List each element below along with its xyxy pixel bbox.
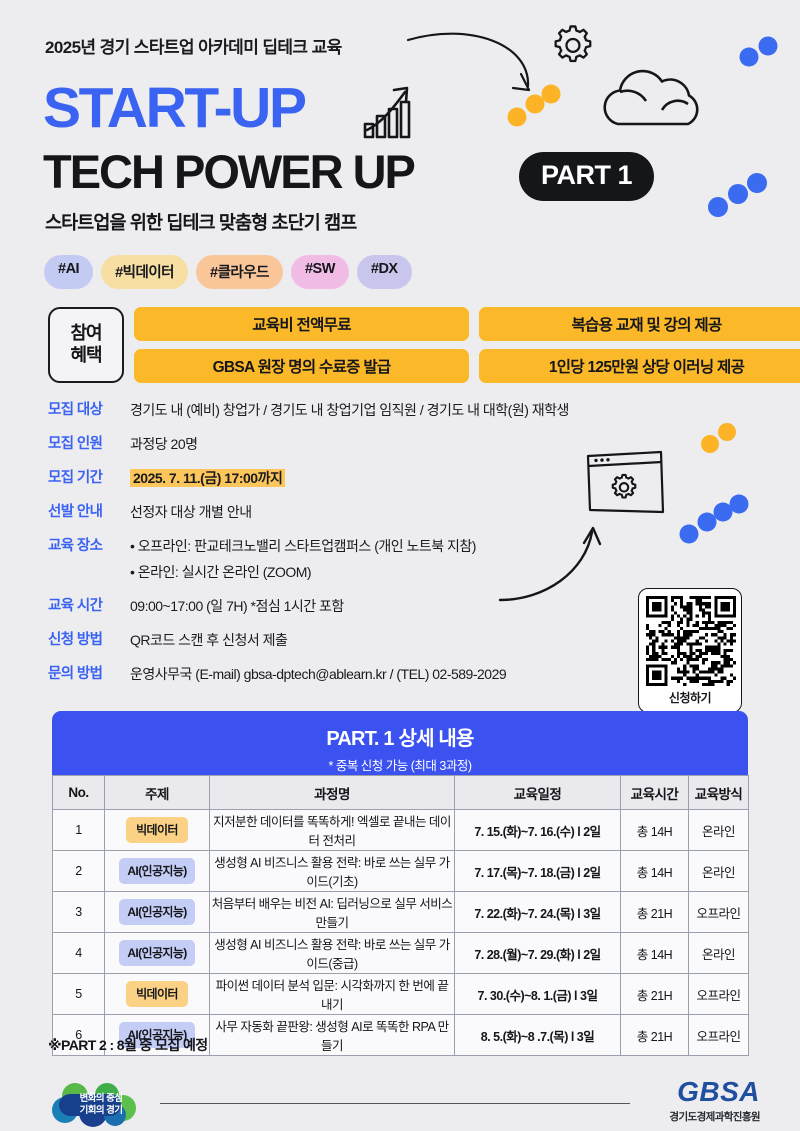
cell-schedule: 7. 28.(월)~7. 29.(화) l 2일	[455, 933, 621, 974]
benefit-item: 1인당 125만원 상당 이러닝 제공	[479, 349, 800, 383]
kicker-text: 2025년 경기 스타트업 아카데미 딥테크 교육	[45, 33, 342, 58]
info-value: 2025. 7. 11.(금) 17:00까지	[130, 468, 285, 488]
column-header: 교육시간	[621, 776, 689, 810]
cell-hours: 총 14H	[621, 810, 689, 851]
gyeonggi-logo-text: 변화의 중심 기회의 경기	[80, 1093, 123, 1117]
cell-schedule: 7. 30.(수)~8. 1.(금) l 3일	[455, 974, 621, 1015]
cell-no: 1	[53, 810, 105, 851]
info-row: 교육 장소• 오프라인: 판교테크노밸리 스타트업캠퍼스 (개인 노트북 지참)…	[48, 536, 648, 583]
cell-course-name: 지저분한 데이터를 똑똑하게! 엑셀로 끝내는 데이터 전처리	[210, 810, 455, 851]
subtitle-text: 스타트업을 위한 딥테크 맞춤형 초단기 캠프	[45, 209, 356, 235]
gbsa-logo: GBSA 경기도경제과학진흥원	[669, 1078, 760, 1124]
cell-hours: 총 14H	[621, 851, 689, 892]
info-value: 선정자 대상 개별 안내	[130, 502, 252, 522]
gyeonggi-logo: 변화의 중심 기회의 경기	[47, 1082, 155, 1128]
title-line-1: START-UP	[43, 80, 305, 137]
cell-no: 2	[53, 851, 105, 892]
qr-apply-label: 신청하기	[646, 689, 734, 706]
cell-no: 5	[53, 974, 105, 1015]
course-table-body: 1빅데이터지저분한 데이터를 똑똑하게! 엑셀로 끝내는 데이터 전처리7. 1…	[53, 810, 749, 1056]
cell-hours: 총 14H	[621, 933, 689, 974]
info-label: 문의 방법	[48, 664, 130, 685]
benefits-badge: 참여 혜택	[48, 307, 124, 383]
benefits-grid: 교육비 전액무료복습용 교재 및 강의 제공GBSA 원장 명의 수료증 발급1…	[134, 307, 800, 383]
info-row: 모집 대상경기도 내 (예비) 창업가 / 경기도 내 창업기업 임직원 / 경…	[48, 400, 648, 421]
cell-hours: 총 21H	[621, 1015, 689, 1056]
cell-topic: AI(인공지능)	[105, 851, 210, 892]
cell-mode: 오프라인	[689, 974, 749, 1015]
info-value-highlight: 2025. 7. 11.(금) 17:00까지	[130, 469, 285, 487]
footer-divider	[160, 1103, 630, 1104]
hashtag-2: #빅데이터	[101, 255, 188, 289]
gyeonggi-logo-line-1: 변화의 중심	[80, 1093, 123, 1104]
info-label: 선발 안내	[48, 502, 130, 523]
column-header: No.	[53, 776, 105, 810]
course-table-head: No.주제과정명교육일정교육시간교육방식	[53, 776, 749, 810]
hashtag-5: #DX	[357, 255, 412, 289]
hashtag-3: #클라우드	[196, 255, 283, 289]
info-row: 모집 기간2025. 7. 11.(금) 17:00까지	[48, 468, 648, 489]
info-value: QR코드 스캔 후 신청서 제출	[130, 630, 287, 650]
part-badge: PART 1	[519, 152, 654, 201]
info-row: 교육 시간09:00~17:00 (일 7H) *점심 1시간 포함	[48, 596, 648, 617]
cell-mode: 오프라인	[689, 892, 749, 933]
cell-mode: 온라인	[689, 933, 749, 974]
table-row: 2AI(인공지능)생성형 AI 비즈니스 활용 전략: 바로 쓰는 실무 가이드…	[53, 851, 749, 892]
table-row: 4AI(인공지능)생성형 AI 비즈니스 활용 전략: 바로 쓰는 실무 가이드…	[53, 933, 749, 974]
column-header: 교육방식	[689, 776, 749, 810]
info-label: 교육 장소	[48, 536, 130, 557]
column-header: 주제	[105, 776, 210, 810]
cell-topic: AI(인공지능)	[105, 892, 210, 933]
topic-badge: AI(인공지능)	[119, 858, 194, 884]
cell-no: 3	[53, 892, 105, 933]
table-note: * 중복 신청 가능 (최대 3과정)	[52, 755, 748, 774]
info-value-line: • 오프라인: 판교테크노밸리 스타트업캠퍼스 (개인 노트북 지참)	[130, 536, 476, 556]
table-row: 1빅데이터지저분한 데이터를 똑똑하게! 엑셀로 끝내는 데이터 전처리7. 1…	[53, 810, 749, 851]
gyeonggi-logo-line-2: 기회의 경기	[80, 1105, 123, 1116]
info-label: 교육 시간	[48, 596, 130, 617]
info-value: 09:00~17:00 (일 7H) *점심 1시간 포함	[130, 596, 344, 616]
cell-mode: 온라인	[689, 810, 749, 851]
cell-hours: 총 21H	[621, 974, 689, 1015]
cell-course-name: 생성형 AI 비즈니스 활용 전략: 바로 쓰는 실무 가이드(기초)	[210, 851, 455, 892]
cell-schedule: 7. 22.(화)~7. 24.(목) l 3일	[455, 892, 621, 933]
info-value-line: • 온라인: 실시간 온라인 (ZOOM)	[130, 562, 476, 582]
cell-course-name: 생성형 AI 비즈니스 활용 전략: 바로 쓰는 실무 가이드(중급)	[210, 933, 455, 974]
hashtag-4: #SW	[291, 255, 349, 289]
gbsa-wordmark: GBSA	[669, 1078, 760, 1106]
info-row: 문의 방법운영사무국 (E-mail) gbsa-dptech@ablearn.…	[48, 664, 648, 685]
cell-schedule: 7. 17.(목)~7. 18.(금) l 2일	[455, 851, 621, 892]
topic-badge: AI(인공지능)	[119, 940, 194, 966]
info-value: • 오프라인: 판교테크노밸리 스타트업캠퍼스 (개인 노트북 지참)• 온라인…	[130, 536, 476, 583]
cell-schedule: 8. 5.(화)~8 .7.(목) l 3일	[455, 1015, 621, 1056]
info-label: 모집 기간	[48, 468, 130, 489]
table-row: 5빅데이터파이썬 데이터 분석 입문: 시각화까지 한 번에 끝내기7. 30.…	[53, 974, 749, 1015]
cell-course-name: 사무 자동화 끝판왕: 생성형 AI로 똑똑한 RPA 만들기	[210, 1015, 455, 1056]
info-value: 과정당 20명	[130, 434, 197, 454]
table-title: PART. 1 상세 내용	[52, 722, 748, 751]
benefit-item: GBSA 원장 명의 수료증 발급	[134, 349, 469, 383]
cell-mode: 온라인	[689, 851, 749, 892]
benefits-section: 참여 혜택 교육비 전액무료복습용 교재 및 강의 제공GBSA 원장 명의 수…	[48, 307, 800, 383]
topic-badge: 빅데이터	[126, 981, 188, 1007]
benefit-item: 교육비 전액무료	[134, 307, 469, 341]
table-row: 3AI(인공지능)처음부터 배우는 비전 AI: 딥러닝으로 실무 서비스 만들…	[53, 892, 749, 933]
info-value: 운영사무국 (E-mail) gbsa-dptech@ablearn.kr / …	[130, 664, 506, 684]
hashtag-list: #AI#빅데이터#클라우드#SW#DX	[44, 255, 412, 289]
qr-code-image	[646, 596, 736, 686]
info-label: 신청 방법	[48, 630, 130, 651]
cell-mode: 오프라인	[689, 1015, 749, 1056]
cell-course-name: 처음부터 배우는 비전 AI: 딥러닝으로 실무 서비스 만들기	[210, 892, 455, 933]
gbsa-subtitle: 경기도경제과학진흥원	[669, 1109, 760, 1124]
column-header: 과정명	[210, 776, 455, 810]
info-row: 선발 안내선정자 대상 개별 안내	[48, 502, 648, 523]
benefits-badge-line-1: 참여	[70, 323, 101, 345]
info-value: 경기도 내 (예비) 창업가 / 경기도 내 창업기업 임직원 / 경기도 내 …	[130, 400, 569, 420]
info-label: 모집 대상	[48, 400, 130, 421]
hashtag-1: #AI	[44, 255, 93, 289]
table-header-banner: PART. 1 상세 내용 * 중복 신청 가능 (최대 3과정)	[52, 711, 748, 784]
qr-apply-card[interactable]: 신청하기	[638, 588, 742, 713]
benefits-badge-line-2: 혜택	[70, 345, 101, 367]
poster-root: 2025년 경기 스타트업 아카데미 딥테크 교육 START-UP TECH …	[0, 0, 800, 1131]
cell-schedule: 7. 15.(화)~7. 16.(수) l 2일	[455, 810, 621, 851]
info-row: 신청 방법QR코드 스캔 후 신청서 제출	[48, 630, 648, 651]
topic-badge: AI(인공지능)	[119, 899, 194, 925]
table-header-row: No.주제과정명교육일정교육시간교육방식	[53, 776, 749, 810]
cell-topic: AI(인공지능)	[105, 933, 210, 974]
cell-no: 4	[53, 933, 105, 974]
cell-course-name: 파이썬 데이터 분석 입문: 시각화까지 한 번에 끝내기	[210, 974, 455, 1015]
column-header: 교육일정	[455, 776, 621, 810]
topic-badge: 빅데이터	[126, 817, 188, 843]
title-line-2: TECH POWER UP	[43, 148, 414, 195]
cell-topic: 빅데이터	[105, 810, 210, 851]
cell-topic: 빅데이터	[105, 974, 210, 1015]
info-row: 모집 인원과정당 20명	[48, 434, 648, 455]
info-label: 모집 인원	[48, 434, 130, 455]
course-table: No.주제과정명교육일정교육시간교육방식 1빅데이터지저분한 데이터를 똑똑하게…	[52, 775, 749, 1056]
benefit-item: 복습용 교재 및 강의 제공	[479, 307, 800, 341]
info-list: 모집 대상경기도 내 (예비) 창업가 / 경기도 내 창업기업 임직원 / 경…	[48, 400, 648, 698]
part2-note: ※PART 2 : 8월 중 모집 예정	[48, 1035, 208, 1055]
cell-hours: 총 21H	[621, 892, 689, 933]
